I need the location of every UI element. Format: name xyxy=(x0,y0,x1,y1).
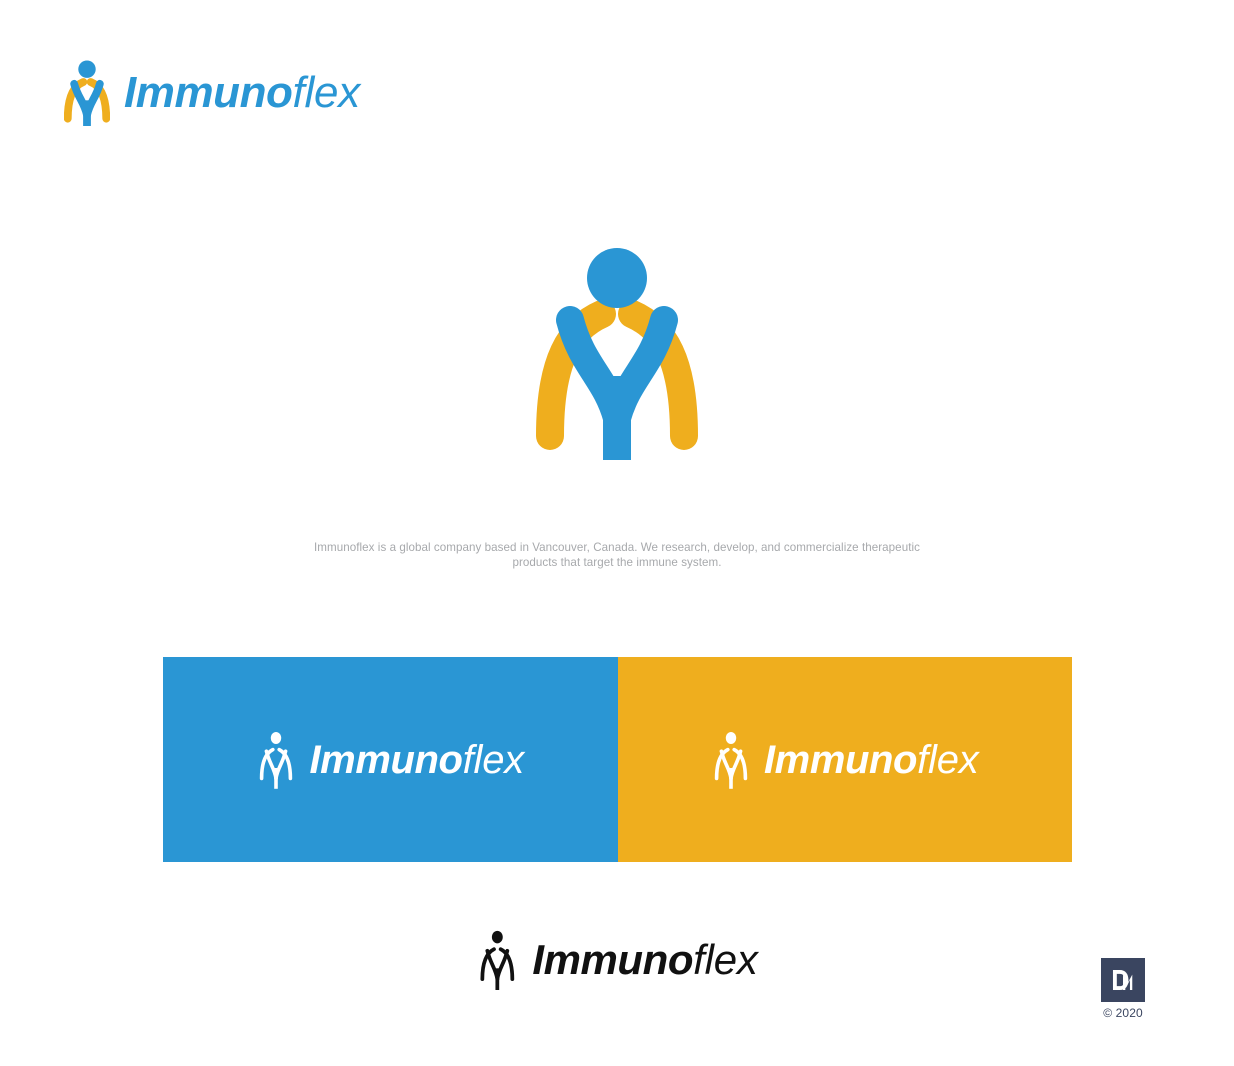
color-panel-row: Immunoflex Immunoflex xyxy=(163,657,1072,862)
designer-monogram-icon xyxy=(1101,958,1145,1002)
wordmark-bold: Immuno xyxy=(532,936,693,983)
color-panel-blue: Immunoflex xyxy=(163,657,618,862)
immunoflex-mark-icon xyxy=(476,930,518,990)
wordmark-light: flex xyxy=(292,68,360,117)
designer-badge: © 2020 xyxy=(1101,958,1145,1020)
wordmark-bold: Immuno xyxy=(764,738,917,782)
copyright-text: © 2020 xyxy=(1101,1006,1145,1020)
header-logo-lockup: Immunoflex xyxy=(64,60,360,126)
wordmark-bold: Immuno xyxy=(124,68,292,117)
wordmark-light: flex xyxy=(917,738,978,782)
panel-yellow-wordmark: Immunoflex xyxy=(764,740,979,780)
wordmark-light: flex xyxy=(463,738,524,782)
color-panel-yellow: Immunoflex xyxy=(618,657,1073,862)
immunoflex-mark-icon xyxy=(256,731,296,789)
hero-logo-mark xyxy=(532,248,702,460)
panel-blue-logo-lockup: Immunoflex xyxy=(256,731,524,789)
brand-description: Immunoflex is a global company based in … xyxy=(302,540,932,571)
immunoflex-mark-icon xyxy=(64,60,110,126)
wordmark-light: flex xyxy=(693,936,758,983)
black-wordmark: Immunoflex xyxy=(532,939,757,981)
immunoflex-mark-icon xyxy=(711,731,751,789)
wordmark-bold: Immuno xyxy=(309,738,462,782)
header-wordmark: Immunoflex xyxy=(124,71,360,115)
black-logo-lockup: Immunoflex xyxy=(476,930,757,990)
panel-blue-wordmark: Immunoflex xyxy=(309,740,524,780)
panel-yellow-logo-lockup: Immunoflex xyxy=(711,731,979,789)
